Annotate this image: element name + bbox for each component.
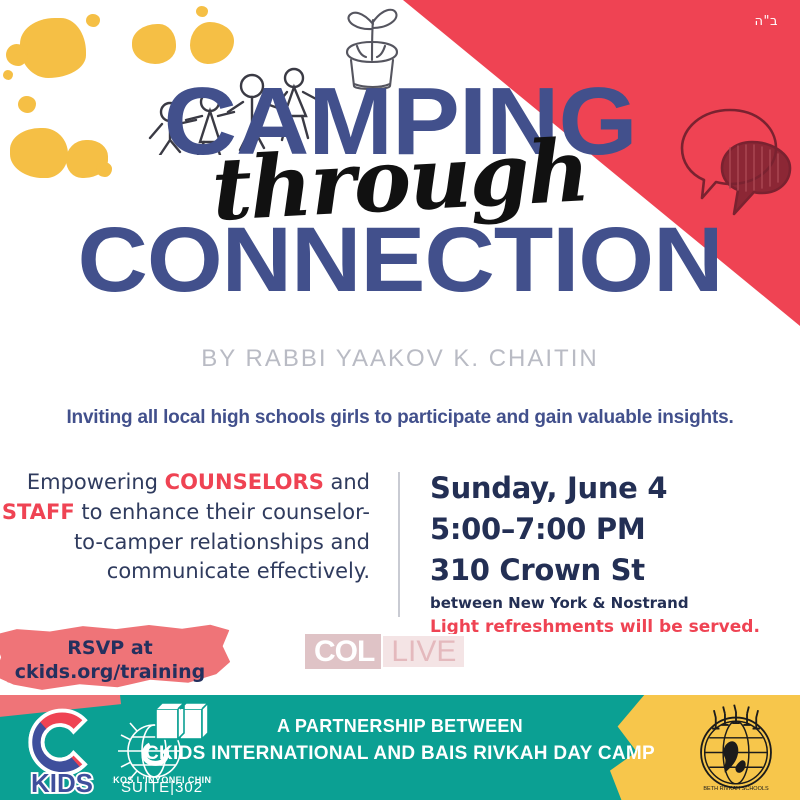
paint-splatter-icon bbox=[86, 14, 100, 27]
refreshments-note: Light refreshments will be served. bbox=[430, 617, 800, 637]
event-address: 310 Crown St bbox=[430, 550, 800, 591]
paint-splatter-icon bbox=[196, 6, 208, 17]
rsvp-url[interactable]: ckids.org/training bbox=[0, 660, 220, 684]
paint-splatter-icon bbox=[6, 44, 28, 66]
description-highlight-staff: STAFF bbox=[2, 500, 75, 524]
cross-streets: between New York & Nostrand bbox=[430, 594, 800, 612]
description-highlight-counselors: COUNSELORS bbox=[165, 470, 324, 494]
flyer-canvas: ב"ה bbox=[0, 0, 800, 800]
ckids-logo-word: KIDS bbox=[31, 770, 93, 797]
beth-rivkah-logo: BETH RIVKAH SCHOOLS bbox=[690, 701, 782, 793]
description-text: Empowering COUNSELORS and STAFF to enhan… bbox=[0, 468, 370, 587]
description-column: Empowering COUNSELORS and STAFF to enhan… bbox=[0, 468, 398, 637]
description-part2: and bbox=[324, 470, 370, 494]
beth-rivkah-label: BETH RIVKAH SCHOOLS bbox=[703, 786, 769, 792]
bh-inscription: ב"ה bbox=[755, 14, 779, 29]
suite-number: SUITE|302 bbox=[112, 779, 212, 796]
event-time: 5:00–7:00 PM bbox=[430, 509, 800, 550]
invitation-line: Inviting all local high schools girls to… bbox=[0, 407, 800, 429]
details-column: Sunday, June 4 5:00–7:00 PM 310 Crown St… bbox=[400, 468, 800, 637]
collive-watermark: COL LIVE bbox=[305, 634, 466, 669]
rsvp-block[interactable]: RSVP at ckids.org/training bbox=[0, 620, 260, 700]
description-part1: Empowering bbox=[27, 470, 165, 494]
partnership-line-1: A PARTNERSHIP BETWEEN bbox=[0, 713, 800, 740]
event-date: Sunday, June 4 bbox=[430, 468, 800, 509]
description-part3: to enhance their counselor-to-camper rel… bbox=[74, 500, 370, 584]
content-columns: Empowering COUNSELORS and STAFF to enhan… bbox=[0, 468, 800, 637]
rsvp-text[interactable]: RSVP at ckids.org/training bbox=[0, 636, 220, 685]
speaker-byline: BY RABBI YAAKOV K. CHAITIN bbox=[0, 345, 800, 373]
collive-col-text: COL bbox=[305, 634, 381, 669]
rsvp-label: RSVP at bbox=[0, 636, 220, 660]
footer-band: KIDS MERKOS L'INYONEI CHINUCH SUITE|302 … bbox=[0, 695, 800, 800]
partnership-line-2: CKIDS INTERNATIONAL AND BAIS RIVKAH DAY … bbox=[0, 740, 800, 769]
partnership-text: A PARTNERSHIP BETWEEN CKIDS INTERNATIONA… bbox=[0, 713, 800, 769]
paint-splatter-icon bbox=[20, 18, 86, 78]
collive-live-text: LIVE bbox=[381, 634, 466, 669]
